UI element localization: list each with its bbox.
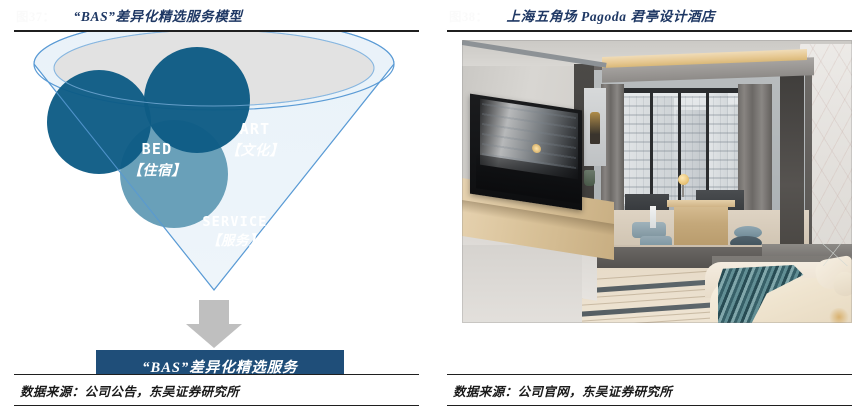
- right-figure-panel: 图38： 上海五角场 Pagoda 君亭设计酒店: [433, 0, 866, 406]
- left-figure-body: BED 【住宿】 ART 【文化】 SERVICE 【服务】 “BAS”差异化精…: [14, 32, 419, 374]
- hotel-room-photo: [462, 40, 852, 323]
- photo-low-table: [674, 203, 728, 249]
- photo-branch-decor: [822, 240, 848, 266]
- bas-result-box: “BAS”差异化精选服务: [96, 350, 344, 374]
- photo-plant-pot: [584, 170, 595, 186]
- photo-tv-reflected-lamp: [532, 143, 541, 153]
- right-source-text: 数据来源：公司官网，东吴证券研究所: [453, 381, 672, 400]
- figure-pair-page: 图37： “BAS”差异化精选服务模型: [0, 0, 866, 406]
- photo-window-header: [620, 88, 742, 93]
- left-figure-title: “BAS”差异化精选服务模型: [74, 5, 243, 25]
- right-figure-number: 图38：: [449, 6, 489, 25]
- photo-dark-column: [780, 56, 804, 271]
- bas-funnel-diagram: BED 【住宿】 ART 【文化】 SERVICE 【服务】 “BAS”差异化精…: [14, 32, 419, 374]
- right-figure-body: [447, 32, 852, 374]
- photo-window-mullion-2: [678, 92, 681, 206]
- photo-bottle: [650, 206, 656, 228]
- circle-art: [144, 47, 250, 153]
- photo-lamp-stem: [682, 183, 684, 197]
- photo-bed-accent: [828, 308, 850, 323]
- left-figure-panel: 图37： “BAS”差异化精选服务模型: [0, 0, 433, 406]
- left-figure-footer: 数据来源：公司公告，东吴证券研究所: [14, 375, 419, 405]
- photo-low-table-top: [667, 200, 735, 207]
- funnel-svg: [14, 32, 419, 374]
- bas-result-label: “BAS”差异化精选服务: [142, 356, 297, 374]
- photo-niche-sculpture: [590, 112, 600, 144]
- left-figure-heading: 图37： “BAS”差异化精选服务模型: [14, 0, 419, 30]
- left-figure-number: 图37：: [16, 6, 56, 25]
- right-figure-heading: 图38： 上海五角场 Pagoda 君亭设计酒店: [447, 0, 852, 30]
- circle-bed: [47, 70, 151, 174]
- right-figure-title: 上海五角场 Pagoda 君亭设计酒店: [507, 5, 716, 25]
- photo-window-mullion-3: [706, 92, 709, 206]
- photo-window-mullion-1: [650, 92, 653, 206]
- photo-left-wall-lower: [462, 245, 582, 323]
- photo-table-lamp: [678, 174, 689, 185]
- left-source-text: 数据来源：公司公告，东吴证券研究所: [20, 381, 239, 400]
- down-arrow: [186, 300, 242, 348]
- right-figure-footer: 数据来源：公司官网，东吴证券研究所: [447, 375, 852, 405]
